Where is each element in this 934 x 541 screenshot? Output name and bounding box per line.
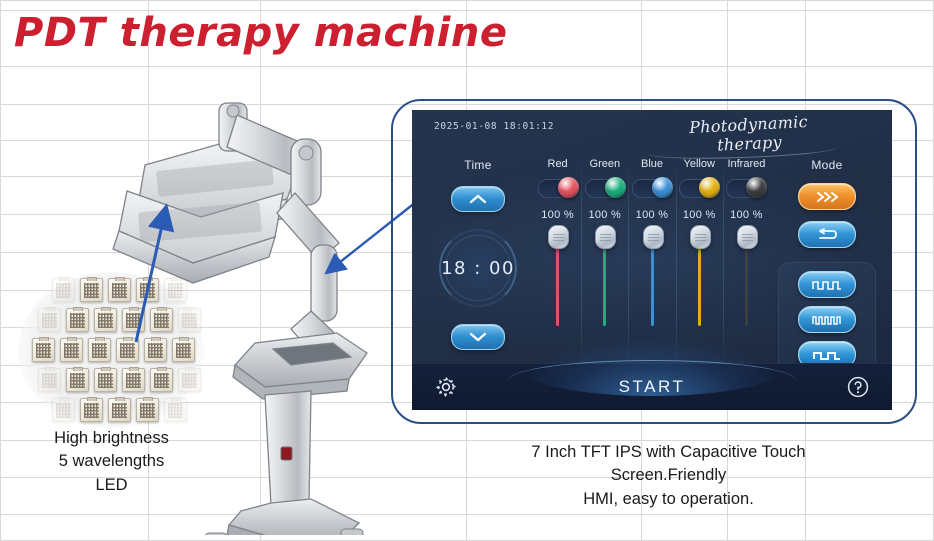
channel-label: Infrared [723,158,770,170]
channel-slider[interactable] [555,230,561,326]
wave-lines-icon [814,190,840,204]
slider-handle[interactable] [643,225,664,249]
channel-toggle[interactable] [632,179,672,198]
loop-arrow-icon [813,228,841,242]
screen-bottom-bar: START [412,363,892,410]
led-chip [60,338,83,362]
help-button[interactable] [846,375,870,399]
chevron-down-icon [468,331,488,343]
mode-label: Mode [778,158,876,172]
toggle-knob [746,177,767,198]
led-die [56,403,71,418]
channel-toggle[interactable] [585,179,625,198]
led-die [56,283,71,298]
page-title: PDT therapy machine [14,10,507,56]
toggle-knob [652,177,673,198]
time-increase-button[interactable] [451,186,505,212]
caption-left: High brightness5 wavelengthsLED [14,427,209,497]
chevron-up-icon [468,193,488,205]
channel-slider[interactable] [743,230,749,326]
hmi-screen[interactable]: 2025-01-08 18:01:12 Photodynamic therapy… [412,110,892,410]
caption-line: 5 wavelengths [14,450,209,473]
caption-line: HMI, easy to operation. [456,488,881,511]
question-mark-icon [846,375,870,399]
channel-toggle[interactable] [538,179,578,198]
channel-label: Blue [628,158,675,170]
pulse-wide-icon [810,279,844,291]
slider-track [556,236,559,326]
toggle-knob [558,177,579,198]
handle-grip [648,232,659,241]
caption-line: High brightness [14,427,209,450]
caption-line: LED [14,474,209,497]
slider-handle[interactable] [595,225,616,249]
led-die [70,373,85,388]
time-label: Time [430,158,526,172]
handle-grip [695,232,706,241]
slider-track [745,236,748,326]
led-die [70,313,85,328]
mode-button-loop[interactable] [798,221,856,248]
start-button[interactable]: START [412,377,892,397]
time-value: 18 : 00 [441,258,515,279]
channel-slider[interactable] [649,230,655,326]
pulse-narrow-icon [810,314,844,326]
channel-slider[interactable] [696,230,702,326]
channel-toggle[interactable] [679,179,719,198]
led-chip [38,308,61,332]
led-die [42,313,57,328]
channel-label: Red [534,158,581,170]
time-decrease-button[interactable] [451,324,505,350]
handle-grip [600,232,611,241]
caption-right: 7 Inch TFT IPS with Capacitive TouchScre… [456,441,881,511]
mode-button-continuous[interactable] [798,183,856,210]
mode-pulse-group [778,262,876,377]
led-die [36,343,51,358]
mode-button-pulse-narrow[interactable] [798,306,856,333]
channel-label: Green [581,158,628,170]
slider-track [651,236,654,326]
led-chip [80,398,103,422]
channel-slider[interactable] [602,230,608,326]
led-die [84,403,99,418]
led-chip [38,368,61,392]
led-die [84,283,99,298]
time-display-dial[interactable]: 18 : 00 [436,226,520,310]
led-die [64,343,79,358]
caption-line: Screen.Friendly [456,464,881,487]
mode-control-group: Mode [778,158,876,377]
channel-label: Yellow [676,158,723,170]
slider-handle[interactable] [690,225,711,249]
toggle-knob [605,177,626,198]
led-die [42,373,57,388]
screen-timestamp: 2025-01-08 18:01:12 [434,121,554,132]
toggle-knob [699,177,720,198]
slider-track [603,236,606,326]
channel-percent: 100 % [581,209,628,221]
channel-toggle[interactable] [726,179,766,198]
caption-line: 7 Inch TFT IPS with Capacitive Touch [456,441,881,464]
led-chip [66,308,89,332]
led-chip [52,398,75,422]
led-chip [80,278,103,302]
channel-percent: 100 % [676,209,723,221]
led-chip [66,368,89,392]
handle-grip [742,232,753,241]
handle-grip [553,232,564,241]
time-control-group: Time 18 : 00 [430,158,526,370]
slider-handle[interactable] [737,225,758,249]
channel-percent: 100 % [723,209,770,221]
channel-percent: 100 % [534,209,581,221]
led-chip [32,338,55,362]
led-chip [52,278,75,302]
slider-track [698,236,701,326]
pulse-square-icon [810,349,844,361]
channel-percent: 100 % [628,209,675,221]
mode-button-pulse-wide[interactable] [798,271,856,298]
slider-handle[interactable] [548,225,569,249]
